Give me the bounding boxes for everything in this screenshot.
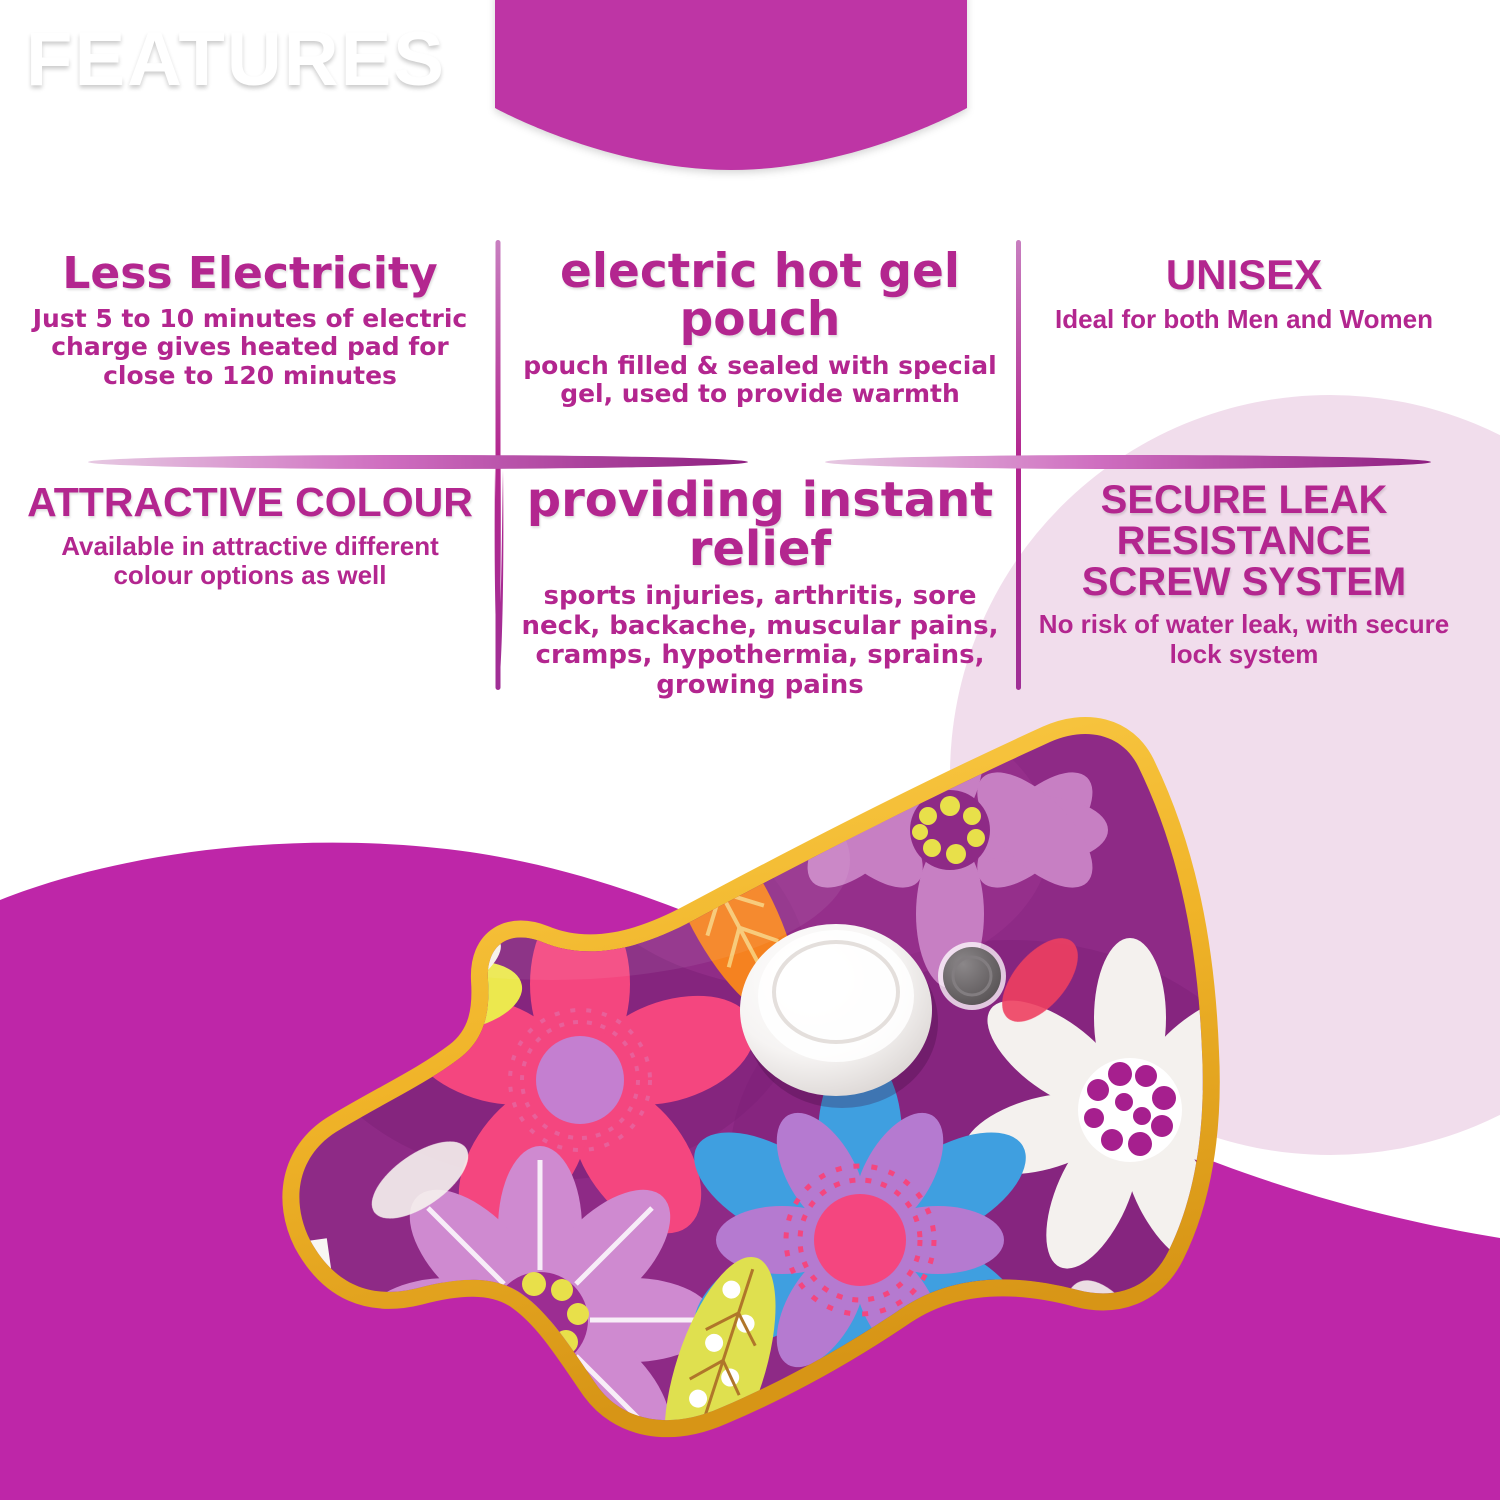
feature-secure-leak-resistance-screw-system: SECURE LEAK RESISTANCE SCREW SYSTEM No r… (1038, 480, 1450, 670)
feature-body: Available in attractive different colour… (22, 532, 478, 591)
feature-unisex: UNISEX Ideal for both Men and Women (1040, 254, 1448, 334)
feature-body: Ideal for both Men and Women (1040, 305, 1448, 335)
feature-body: Just 5 to 10 minutes of electric charge … (22, 305, 478, 391)
features-grid: Less Electricity Just 5 to 10 minutes of… (0, 238, 1500, 693)
feature-heading: UNISEX (1040, 254, 1448, 297)
product-image-hot-water-bottle (250, 680, 1250, 1480)
feature-less-electricity: Less Electricity Just 5 to 10 minutes of… (22, 252, 478, 390)
feature-heading: ATTRACTIVE COLOUR (22, 482, 478, 524)
feature-heading: electric hot gel pouch (512, 248, 1008, 344)
feature-attractive-colour: ATTRACTIVE COLOUR Available in attractiv… (22, 482, 478, 591)
temperature-indicator (938, 942, 1006, 1010)
features-banner (495, 0, 967, 170)
feature-heading: SECURE LEAK RESISTANCE SCREW SYSTEM (1038, 480, 1450, 602)
feature-body: No risk of water leak, with secure lock … (1038, 610, 1450, 669)
feature-electric-hot-gel-pouch: electric hot gel pouch pouch filled & se… (512, 248, 1008, 409)
feature-heading: Less Electricity (22, 252, 478, 297)
feature-providing-instant-relief: providing instant relief sports injuries… (512, 476, 1008, 700)
feature-body: pouch filled & sealed with special gel, … (512, 352, 1008, 409)
infographic-canvas: FEATURES Less Electricity (0, 0, 1500, 1500)
feature-heading: providing instant relief (512, 476, 1008, 574)
page-title: FEATURES (0, 16, 472, 103)
